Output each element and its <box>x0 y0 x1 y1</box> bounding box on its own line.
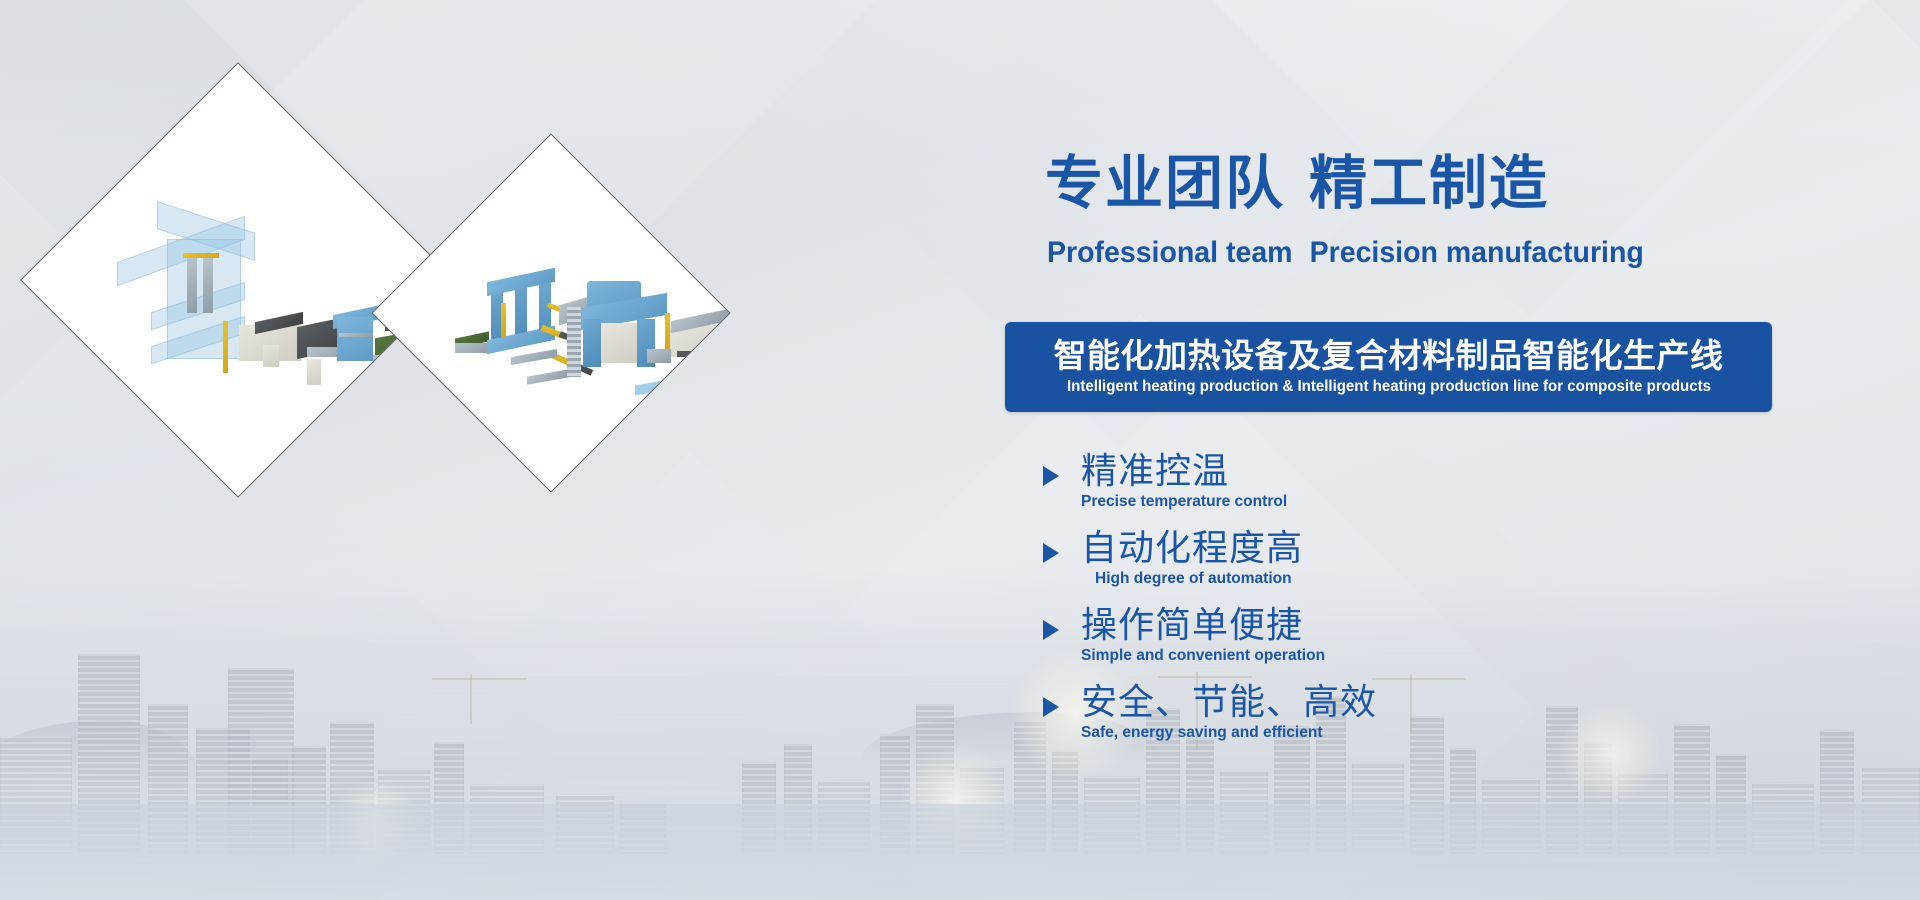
feature-text: 自动化程度高 High degree of automation <box>1081 529 1303 588</box>
headline-english: Professional teamPrecision manufacturing <box>1047 238 1644 268</box>
feature-label-english: High degree of automation <box>1095 569 1297 588</box>
feature-label-english: Safe, energy saving and efficient <box>1081 723 1368 742</box>
feature-label-chinese: 自动化程度高 <box>1081 529 1303 568</box>
product-render-press-line <box>425 187 677 439</box>
feature-item: 安全、节能、高效 Safe, energy saving and efficie… <box>1043 683 1663 742</box>
feature-label-chinese: 精准控温 <box>1081 452 1294 491</box>
product-render-heating-line <box>85 127 391 433</box>
feature-text: 安全、节能、高效 Safe, energy saving and efficie… <box>1081 683 1377 742</box>
headline-en-part2: Precision manufacturing <box>1310 236 1644 269</box>
product-title-english: Intelligent heating production & Intelli… <box>1066 378 1710 396</box>
headline-en-part1: Professional team <box>1047 236 1293 269</box>
triangle-bullet-icon <box>1043 543 1059 563</box>
feature-label-chinese: 操作简单便捷 <box>1081 606 1333 645</box>
triangle-bullet-icon <box>1043 697 1059 717</box>
headline-zh-part1: 专业团队 <box>1045 151 1285 216</box>
triangle-bullet-icon <box>1043 620 1059 640</box>
triangle-bullet-icon <box>1043 466 1059 486</box>
headline-zh-part2: 精工制造 <box>1309 151 1549 216</box>
promo-banner: 专业团队精工制造 Professional teamPrecision manu… <box>0 0 1920 900</box>
headline-chinese: 专业团队精工制造 <box>1045 155 1549 213</box>
feature-item: 精准控温 Precise temperature control <box>1043 452 1663 511</box>
feature-label-english: Precise temperature control <box>1081 492 1287 511</box>
feature-text: 精准控温 Precise temperature control <box>1081 452 1294 511</box>
feature-item: 操作简单便捷 Simple and convenient operation <box>1043 606 1663 665</box>
feature-item: 自动化程度高 High degree of automation <box>1043 529 1663 588</box>
product-title-chinese: 智能化加热设备及复合材料制品智能化生产线 <box>1054 338 1724 374</box>
feature-list: 精准控温 Precise temperature control 自动化程度高 … <box>1043 452 1663 760</box>
feature-label-english: Simple and convenient operation <box>1081 646 1325 665</box>
text-content-column: 专业团队精工制造 Professional teamPrecision manu… <box>1005 0 1805 900</box>
feature-text: 操作简单便捷 Simple and convenient operation <box>1081 606 1333 665</box>
product-title-banner: 智能化加热设备及复合材料制品智能化生产线 Intelligent heating… <box>1005 322 1772 412</box>
construction-crane <box>470 674 472 724</box>
feature-label-chinese: 安全、节能、高效 <box>1081 683 1377 722</box>
